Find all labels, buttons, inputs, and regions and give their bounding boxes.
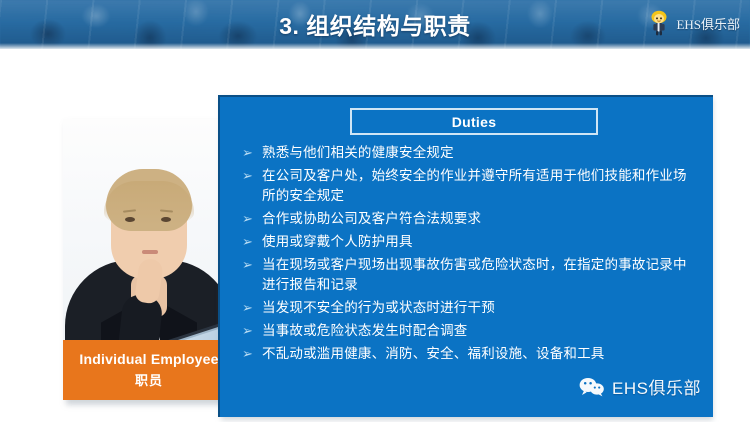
list-item-text: 当发现不安全的行为或状态时进行干预 <box>262 298 700 318</box>
photo-caption-banner: Individual Employee 职员 <box>63 340 235 400</box>
list-item-text: 熟悉与他们相关的健康安全规定 <box>262 143 700 163</box>
duties-bullet-list: ➢ 熟悉与他们相关的健康安全规定 ➢ 在公司及客户处，始终安全的作业并遵守所有适… <box>242 143 700 367</box>
arrow-bullet-icon: ➢ <box>242 209 262 229</box>
wechat-icon <box>579 377 605 397</box>
photo-caption-chinese: 职员 <box>135 370 163 389</box>
list-item: ➢ 当事故或危险状态发生时配合调查 <box>242 321 700 341</box>
arrow-bullet-icon: ➢ <box>242 321 262 341</box>
arrow-bullet-icon: ➢ <box>242 344 262 364</box>
list-item-text: 当事故或危险状态发生时配合调查 <box>262 321 700 341</box>
photo-mouth <box>142 250 158 254</box>
list-item: ➢ 熟悉与他们相关的健康安全规定 <box>242 143 700 163</box>
arrow-bullet-icon: ➢ <box>242 143 262 163</box>
arrow-bullet-icon: ➢ <box>242 255 262 275</box>
list-item-text: 当在现场或客户现场出现事故伤害或危险状态时，在指定的事故记录中进行报告和记录 <box>262 255 700 295</box>
duties-panel: Duties ➢ 熟悉与他们相关的健康安全规定 ➢ 在公司及客户处，始终安全的作… <box>218 95 713 417</box>
slide-header: 3. 组织结构与职责 EHS俱乐部 <box>0 0 750 49</box>
slide-canvas: 3. 组织结构与职责 EHS俱乐部 <box>0 0 750 422</box>
list-item: ➢ 不乱动或滥用健康、消防、安全、福利设施、设备和工具 <box>242 344 700 364</box>
wechat-watermark-text: EHS俱乐部 <box>612 374 701 399</box>
list-item: ➢ 合作或协助公司及客户符合法规要求 <box>242 209 700 229</box>
list-item-text: 使用或穿戴个人防护用具 <box>262 232 700 252</box>
list-item: ➢ 在公司及客户处，始终安全的作业并遵守所有适用于他们技能和作业场所的安全规定 <box>242 166 700 206</box>
wechat-watermark: EHS俱乐部 <box>579 374 701 399</box>
duties-title-box: Duties <box>350 108 598 135</box>
photo-eye-right <box>161 217 171 222</box>
arrow-bullet-icon: ➢ <box>242 298 262 318</box>
photo-caption-english: Individual Employee <box>79 351 218 367</box>
page-title: 3. 组织结构与职责 <box>0 7 750 41</box>
header-bottom-fade <box>0 43 750 49</box>
list-item: ➢ 使用或穿戴个人防护用具 <box>242 232 700 252</box>
photo-eye-left <box>125 217 135 222</box>
list-item: ➢ 当发现不安全的行为或状态时进行干预 <box>242 298 700 318</box>
duties-title: Duties <box>452 114 497 130</box>
list-item-text: 不乱动或滥用健康、消防、安全、福利设施、设备和工具 <box>262 344 700 364</box>
list-item-text: 合作或协助公司及客户符合法规要求 <box>262 209 700 229</box>
arrow-bullet-icon: ➢ <box>242 232 262 252</box>
list-item-text: 在公司及客户处，始终安全的作业并遵守所有适用于他们技能和作业场所的安全规定 <box>262 166 700 206</box>
arrow-bullet-icon: ➢ <box>242 166 262 186</box>
list-item: ➢ 当在现场或客户现场出现事故伤害或危险状态时，在指定的事故记录中进行报告和记录 <box>242 255 700 295</box>
brand-logo: EHS俱乐部 <box>648 10 740 36</box>
photo-hair-side-shape <box>104 181 194 225</box>
brand-name: EHS俱乐部 <box>676 14 740 33</box>
mascot-character-icon <box>648 10 670 36</box>
